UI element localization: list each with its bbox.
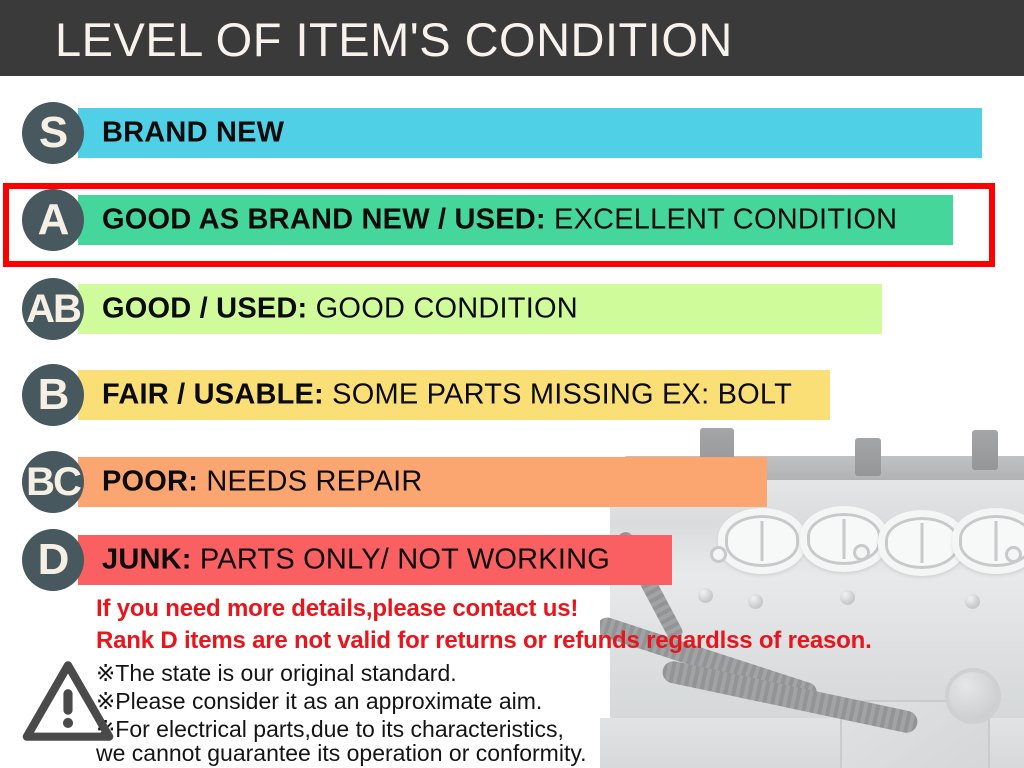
rank-label-ab: GOOD / USED: GOOD CONDITION: [102, 293, 578, 326]
rank-row-bc: POOR: NEEDS REPAIRBC: [0, 457, 1024, 521]
rank-badge-b: B: [22, 364, 84, 426]
rank-label-bold: BRAND NEW: [102, 117, 284, 149]
rank-badge-text: AB: [26, 289, 80, 329]
rank-badge-text: B: [38, 373, 69, 417]
rank-label-s: BRAND NEW: [102, 117, 284, 150]
rank-badge-text: BC: [26, 462, 80, 502]
rank-badge-d: D: [22, 529, 84, 591]
warning-triangle-icon: [22, 658, 114, 744]
rank-label-rest: PARTS ONLY/ NOT WORKING: [192, 544, 610, 576]
note-line-2: ※Please consider it as an approximate ai…: [96, 688, 542, 715]
rank-badge-ab: AB: [22, 278, 84, 340]
rank-label-bold: POOR:: [102, 466, 198, 498]
rank-row-ab: GOOD / USED: GOOD CONDITIONAB: [0, 284, 1024, 348]
rank-label-bold: FAIR / USABLE:: [102, 379, 324, 411]
note-red-line-2: Rank D items are not valid for returns o…: [96, 627, 872, 655]
condition-level-infographic: LEVEL OF ITEM'S CONDITION BRAND NEWSGOOD…: [0, 0, 1024, 768]
rank-bar-bc: POOR: NEEDS REPAIR: [78, 457, 767, 507]
note-line-3: ※For electrical parts,due to its charact…: [96, 716, 564, 743]
rank-label-d: JUNK: PARTS ONLY/ NOT WORKING: [102, 544, 610, 577]
note-line-1: ※The state is our original standard.: [96, 660, 457, 687]
rank-bar-s: BRAND NEW: [78, 108, 982, 158]
rank-a-highlight-box: [3, 183, 995, 267]
rank-label-b: FAIR / USABLE: SOME PARTS MISSING EX: BO…: [102, 379, 792, 412]
rank-label-rest: GOOD CONDITION: [307, 293, 577, 325]
rank-badge-s: S: [22, 102, 84, 164]
rank-row-s: BRAND NEWS: [0, 108, 1024, 172]
note-line-4: we cannot guarantee its operation or con…: [96, 740, 587, 767]
rank-row-b: FAIR / USABLE: SOME PARTS MISSING EX: BO…: [0, 370, 1024, 434]
rank-label-rest: NEEDS REPAIR: [198, 466, 422, 498]
rank-bar-d: JUNK: PARTS ONLY/ NOT WORKING: [78, 535, 672, 585]
rank-bar-b: FAIR / USABLE: SOME PARTS MISSING EX: BO…: [78, 370, 830, 420]
rank-badge-bc: BC: [22, 451, 84, 513]
rank-label-bold: JUNK:: [102, 544, 192, 576]
page-title: LEVEL OF ITEM'S CONDITION: [55, 12, 733, 67]
rank-badge-text: S: [39, 111, 67, 155]
rank-row-d: JUNK: PARTS ONLY/ NOT WORKINGD: [0, 535, 1024, 599]
header-bar: LEVEL OF ITEM'S CONDITION: [0, 0, 1024, 76]
rank-label-bold: GOOD / USED:: [102, 293, 307, 325]
rank-label-rest: SOME PARTS MISSING EX: BOLT: [324, 379, 792, 411]
rank-badge-text: D: [38, 538, 69, 582]
rank-label-bc: POOR: NEEDS REPAIR: [102, 466, 423, 499]
note-red-line-1: If you need more details,please contact …: [96, 595, 578, 623]
rank-bar-ab: GOOD / USED: GOOD CONDITION: [78, 284, 882, 334]
